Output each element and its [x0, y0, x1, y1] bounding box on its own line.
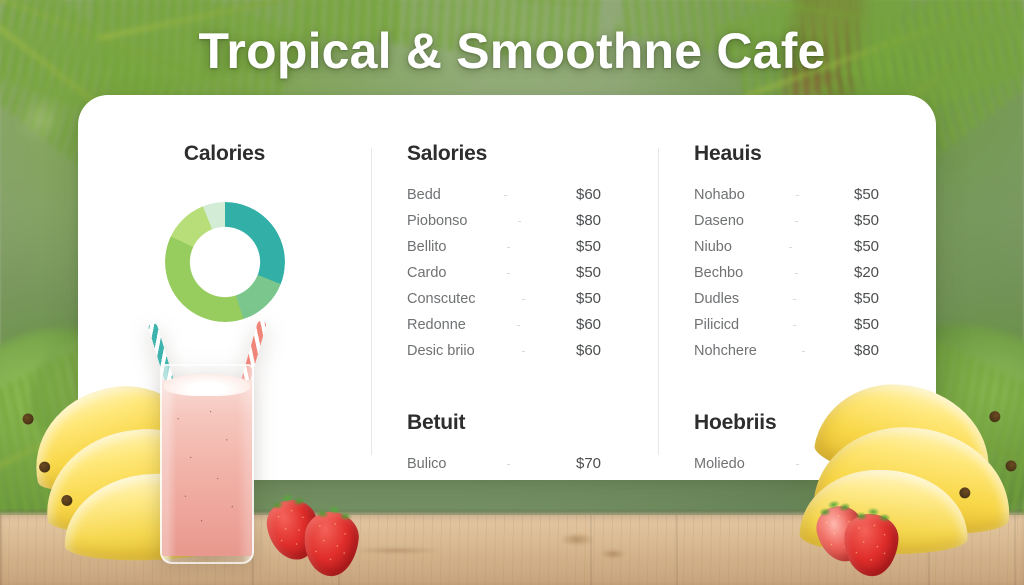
- menu-item-leader: [483, 351, 568, 352]
- menu-item-leader: [474, 325, 568, 326]
- menu-item-row[interactable]: Nohchere$80: [694, 338, 906, 364]
- wood-knot: [600, 549, 626, 559]
- menu-item-name: Heseng: [694, 477, 744, 480]
- menu-item-price: $60: [576, 312, 628, 338]
- menu-item-leader: [765, 351, 846, 352]
- menu-item-price: $20: [854, 260, 906, 286]
- menu-item-price: $80: [576, 208, 628, 234]
- smoothie-glass: [160, 364, 254, 564]
- menu-item-name: Nohchere: [694, 338, 757, 364]
- menu-item-name: Bedd: [407, 182, 441, 208]
- page-title: Tropical & Smoothne Cafe: [0, 22, 1024, 80]
- menu-item-row[interactable]: Euanninic$80: [407, 477, 628, 480]
- menu-item-price: $50: [854, 182, 906, 208]
- menu-item-price: $50: [576, 286, 628, 312]
- wood-grain: [352, 547, 442, 554]
- menu-item-price: $60: [576, 182, 628, 208]
- menu-item-price: $50: [854, 208, 906, 234]
- menu-item-leader: [455, 464, 569, 465]
- menu-item-leader: [475, 221, 568, 222]
- menu-item-price: $50: [854, 286, 906, 312]
- calories-donut-chart: [165, 202, 285, 322]
- menu-item-name: Redonne: [407, 312, 466, 338]
- menu-item-name: Cardo: [407, 260, 447, 286]
- menu-item-leader: [747, 325, 846, 326]
- menu-item-row[interactable]: Redonne$60: [407, 312, 628, 338]
- item-list-salories: Bedd$60Piobonso$80Bellito$50Cardo$50Cons…: [407, 182, 628, 364]
- menu-item-row[interactable]: Pilicicd$50: [694, 312, 906, 338]
- menu-item-name: Daseno: [694, 208, 744, 234]
- menu-item-name: Desic briio: [407, 338, 475, 364]
- menu-item-price: $60: [576, 338, 628, 364]
- wood-knot: [560, 533, 594, 546]
- menu-item-row[interactable]: Bellito$50: [407, 234, 628, 260]
- glass-body: [160, 364, 254, 564]
- menu-item-leader: [449, 195, 568, 196]
- menu-item-row[interactable]: Daseno$50: [694, 208, 906, 234]
- menu-item-price: $80: [854, 338, 906, 364]
- menu-item-price: $50: [576, 234, 628, 260]
- section-heading-heauis: Heauis: [694, 142, 936, 166]
- section-heading-calories: Calories: [78, 142, 371, 166]
- menu-item-row[interactable]: Bechbo$20: [694, 260, 906, 286]
- item-list-betuit: Bulico$70Euanninic$80Foutane$50: [407, 451, 628, 480]
- menu-item-leader: [751, 273, 846, 274]
- menu-item-name: Bechbo: [694, 260, 743, 286]
- menu-item-leader: [747, 299, 846, 300]
- menu-item-row[interactable]: Bulico$70: [407, 451, 628, 477]
- menu-item-leader: [752, 221, 846, 222]
- menu-item-row[interactable]: Desic briio$60: [407, 338, 628, 364]
- menu-item-row[interactable]: Niubo$50: [694, 234, 906, 260]
- smoothie-liquid: [162, 380, 252, 556]
- menu-item-name: Bellito: [407, 234, 447, 260]
- menu-item-leader: [455, 247, 569, 248]
- menu-item-leader: [753, 195, 846, 196]
- section-heading-betuit: Betuit: [407, 411, 658, 435]
- menu-item-name: Bulico: [407, 451, 447, 477]
- menu-item-price: $80: [576, 477, 628, 480]
- column-salories: Salories Bedd$60Piobonso$80Bellito$50Car…: [371, 95, 658, 480]
- menu-item-price: $70: [576, 451, 628, 477]
- menu-item-name: Dudles: [694, 286, 739, 312]
- menu-item-name: Piobonso: [407, 208, 467, 234]
- menu-item-row[interactable]: Cardo$50: [407, 260, 628, 286]
- donut-ring: [165, 202, 285, 322]
- menu-item-name: Nohabo: [694, 182, 745, 208]
- item-list-heauis: Nohabo$50Daseno$50Niubo$50Bechbo$20Dudle…: [694, 182, 906, 364]
- menu-item-leader: [484, 299, 568, 300]
- menu-item-row[interactable]: Dudles$50: [694, 286, 906, 312]
- menu-item-leader: [740, 247, 846, 248]
- menu-item-row[interactable]: Bedd$60: [407, 182, 628, 208]
- smoothie-foam: [164, 374, 250, 396]
- menu-item-price: $50: [576, 260, 628, 286]
- section-heading-salories: Salories: [407, 142, 658, 166]
- menu-item-price: $50: [854, 312, 906, 338]
- menu-item-name: Euanninic: [407, 477, 471, 480]
- menu-item-name: Moliedo: [694, 451, 745, 477]
- menu-item-name: Pilicicd: [694, 312, 739, 338]
- menu-item-row[interactable]: Nohabo$50: [694, 182, 906, 208]
- menu-item-price: $50: [854, 234, 906, 260]
- menu-item-row[interactable]: Piobonso$80: [407, 208, 628, 234]
- menu-item-row[interactable]: Conscutec$50: [407, 286, 628, 312]
- menu-poster: Tropical & Smoothne Cafe Calories Salori…: [0, 0, 1024, 585]
- menu-item-name: Niubo: [694, 234, 732, 260]
- menu-item-name: Conscutec: [407, 286, 476, 312]
- column-calories: Calories: [78, 95, 371, 166]
- menu-item-leader: [455, 273, 569, 274]
